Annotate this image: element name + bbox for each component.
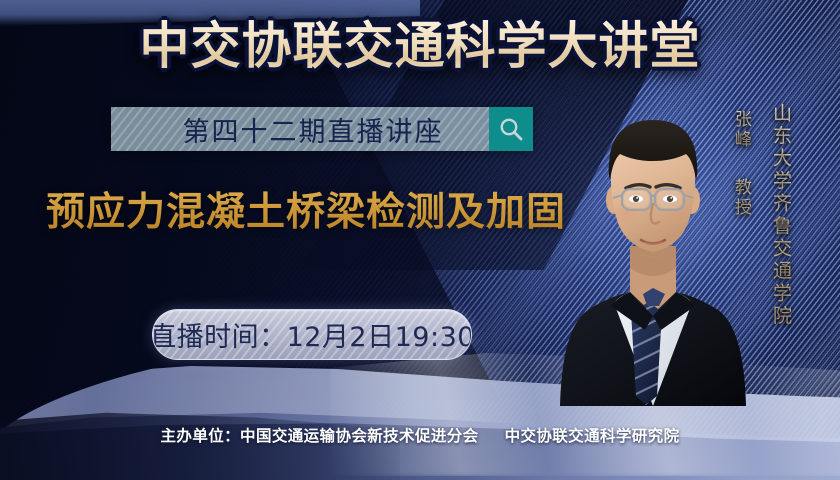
speaker-name: 张峰 bbox=[729, 110, 754, 150]
broadcast-time-badge: 直播时间：12月2日19:30 bbox=[152, 309, 472, 360]
speaker-role: 教授 bbox=[729, 178, 754, 218]
broadcast-time-label: 直播时间：12月2日19:30 bbox=[152, 315, 472, 354]
footer-organizer-2: 中交协联交通科学研究院 bbox=[505, 427, 680, 445]
footer-prefix: 主办单位： bbox=[161, 427, 241, 445]
episode-banner-fill: 第四十二期直播讲座 bbox=[111, 107, 489, 151]
search-icon bbox=[497, 115, 525, 143]
lecture-title: 预应力混凝土桥梁检测及加固 bbox=[46, 189, 566, 237]
page-title: 中交协联交通科学大讲堂 bbox=[0, 16, 840, 76]
footer-organizer-1: 中国交通运输协会新技术促进分会 bbox=[240, 427, 479, 445]
episode-label: 第四十二期直播讲座 bbox=[157, 110, 444, 149]
search-button[interactable] bbox=[489, 107, 533, 151]
footer-organizers: 主办单位：中国交通运输协会新技术促进分会中交协联交通科学研究院 bbox=[0, 424, 840, 446]
speaker-portrait bbox=[548, 96, 758, 406]
speaker-affiliation: 山东大学齐鲁交通学院 bbox=[768, 103, 795, 328]
live-lecture-poster: 中交协联交通科学大讲堂 第四十二期直播讲座 预应力混凝土桥梁检测及加固 直播时间… bbox=[0, 0, 840, 480]
episode-banner: 第四十二期直播讲座 bbox=[111, 107, 533, 151]
